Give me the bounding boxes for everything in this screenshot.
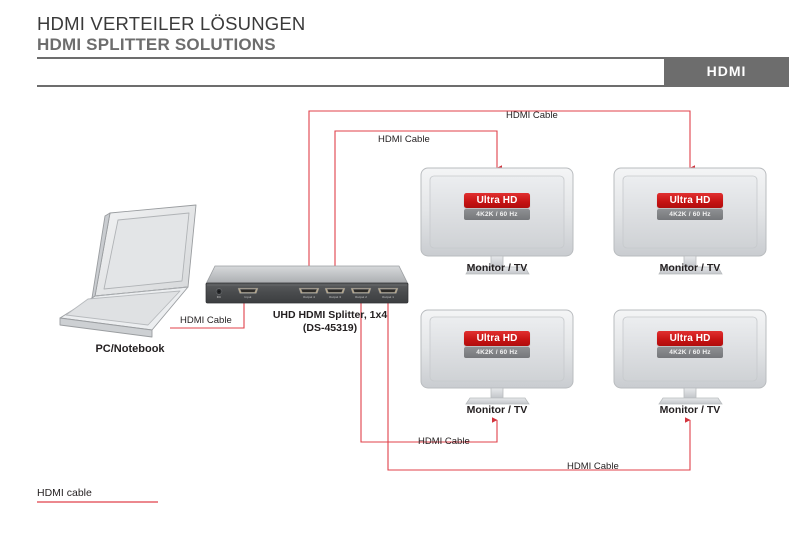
- monitor-top-right-badge: Ultra HD 4K2K / 60 Hz: [657, 193, 723, 220]
- ultra-hd-badge: Ultra HD: [464, 193, 530, 208]
- port-label-output-4: Output 4: [298, 295, 320, 299]
- cable-top-right-label: HDMI Cable: [506, 110, 558, 121]
- port-label-dc: DC: [208, 295, 230, 299]
- port-label-output-3: Output 3: [324, 295, 346, 299]
- legend-label: HDMI cable: [37, 487, 92, 499]
- monitor-top-right-label: Monitor / TV: [610, 262, 770, 274]
- cable-bottom-right-label: HDMI Cable: [567, 461, 619, 472]
- monitor-bottom-right-label: Monitor / TV: [610, 404, 770, 416]
- resolution-badge: 4K2K / 60 Hz: [657, 347, 723, 358]
- cable-top-left-label: HDMI Cable: [378, 134, 430, 145]
- port-label-output-1: Output 1: [377, 295, 399, 299]
- ultra-hd-badge: Ultra HD: [657, 193, 723, 208]
- cable-bottom-left-label: HDMI Cable: [418, 436, 470, 447]
- resolution-badge: 4K2K / 60 Hz: [657, 209, 723, 220]
- resolution-badge: 4K2K / 60 Hz: [464, 347, 530, 358]
- diagram-canvas: HDMI VERTEILER LÖSUNGEN HDMI SPLITTER SO…: [0, 0, 800, 533]
- pc-notebook-illustration: [60, 205, 196, 337]
- cable-input-label: HDMI Cable: [180, 315, 232, 326]
- splitter-model-label: (DS-45319): [245, 322, 415, 335]
- monitor-top-right-illustration: [614, 168, 766, 274]
- splitter-name-label: UHD HDMI Splitter, 1x4: [245, 309, 415, 322]
- monitor-top-left-label: Monitor / TV: [417, 262, 577, 274]
- resolution-badge: 4K2K / 60 Hz: [464, 209, 530, 220]
- ultra-hd-badge: Ultra HD: [657, 331, 723, 346]
- pc-notebook-label: PC/Notebook: [84, 343, 176, 355]
- port-label-output-2: Output 2: [350, 295, 372, 299]
- monitor-bottom-left-label: Monitor / TV: [417, 404, 577, 416]
- monitor-top-left-badge: Ultra HD 4K2K / 60 Hz: [464, 193, 530, 220]
- monitor-top-left-illustration: [421, 168, 573, 274]
- monitor-bottom-right-badge: Ultra HD 4K2K / 60 Hz: [657, 331, 723, 358]
- ultra-hd-badge: Ultra HD: [464, 331, 530, 346]
- monitor-bottom-left-badge: Ultra HD 4K2K / 60 Hz: [464, 331, 530, 358]
- port-label-input: Input: [237, 295, 259, 299]
